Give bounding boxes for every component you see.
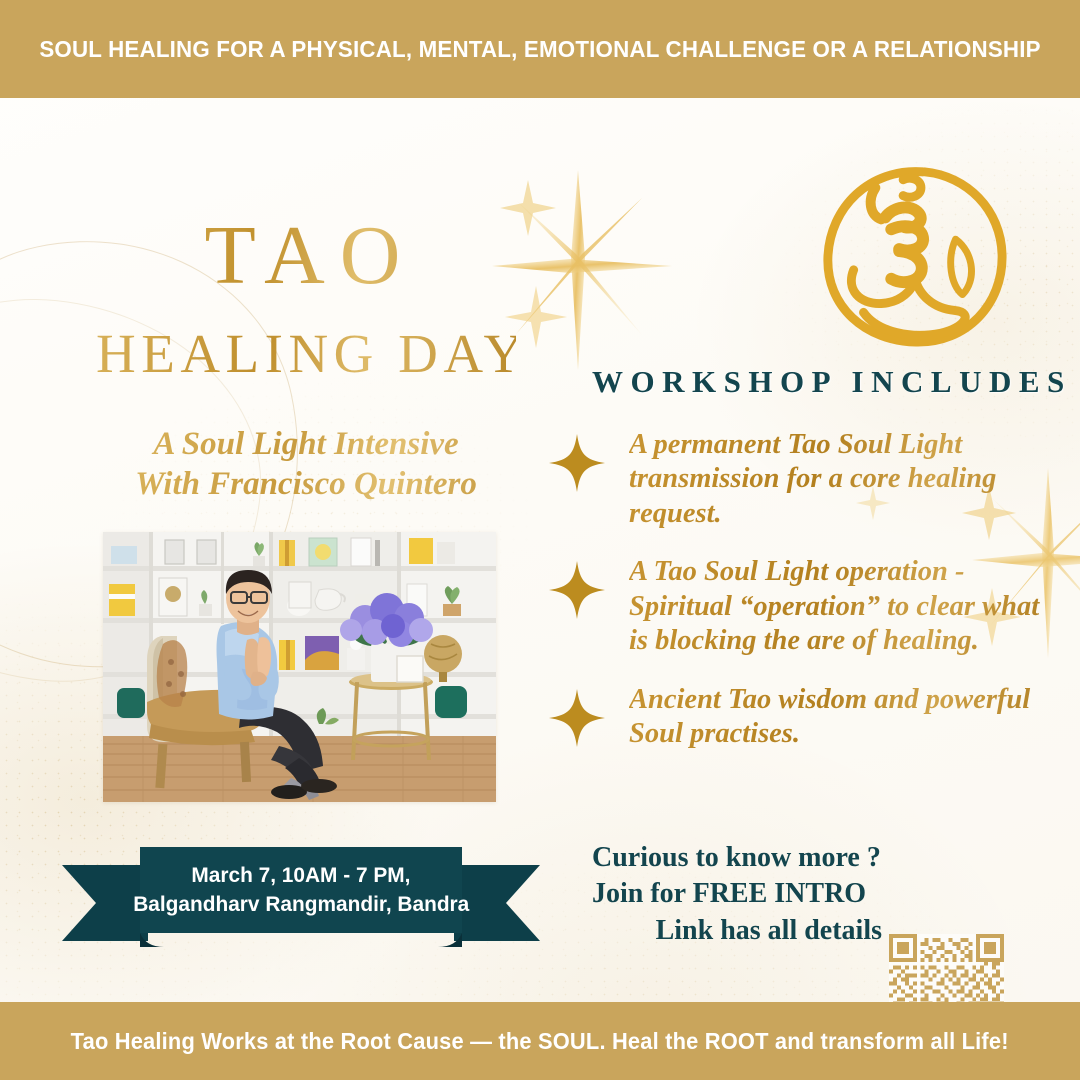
cta-line-1: Curious to know more ? bbox=[592, 840, 882, 876]
event-date-time: March 7, 10AM - 7 PM, bbox=[191, 863, 410, 888]
tao-om-circle-logo bbox=[816, 160, 1014, 350]
poster-body: TAO HEALING DAY A Soul Light Intensive W… bbox=[0, 98, 1080, 1002]
francisco-quintero-photo bbox=[103, 532, 496, 802]
four-point-star-bullet-icon bbox=[549, 561, 605, 619]
page-title-primary: TAO bbox=[110, 216, 510, 296]
event-details-ribbon: March 7, 10AM - 7 PM, Balgandharv Rangma… bbox=[62, 847, 540, 951]
bottom-banner-text: Tao Healing Works at the Root Cause — th… bbox=[71, 1028, 1009, 1055]
list-item: Ancient Tao wisdom and powerful Soul pra… bbox=[545, 683, 1045, 752]
cta-line-2: Join for FREE INTRO bbox=[592, 876, 882, 912]
cta-line-3: Link has all details bbox=[592, 913, 882, 949]
page-title-secondary: HEALING DAY bbox=[96, 326, 516, 381]
four-point-star-bullet-icon bbox=[549, 434, 605, 492]
top-banner-text: SOUL HEALING FOR A PHYSICAL, MENTAL, EMO… bbox=[39, 36, 1040, 63]
bottom-banner: Tao Healing Works at the Root Cause — th… bbox=[0, 1002, 1080, 1080]
list-item-text: A permanent Tao Soul Light transmission … bbox=[629, 428, 1045, 531]
list-item: A Tao Soul Light operation - Spiritual “… bbox=[545, 555, 1045, 658]
workshop-includes-list: A permanent Tao Soul Light transmission … bbox=[545, 428, 1045, 776]
workshop-includes-heading: WORKSHOP INCLUDES bbox=[592, 364, 1072, 400]
list-item: A permanent Tao Soul Light transmission … bbox=[545, 428, 1045, 531]
poster-root: SOUL HEALING FOR A PHYSICAL, MENTAL, EMO… bbox=[0, 0, 1080, 1080]
page-subtitle-line1: A Soul Light Intensive bbox=[96, 425, 516, 465]
event-details-text: March 7, 10AM - 7 PM, Balgandharv Rangma… bbox=[62, 847, 540, 933]
call-to-action-text: Curious to know more ? Join for FREE INT… bbox=[592, 840, 882, 949]
page-subtitle: A Soul Light Intensive With Francisco Qu… bbox=[96, 425, 516, 505]
list-item-text: A Tao Soul Light operation - Spiritual “… bbox=[629, 555, 1045, 658]
list-item-text: Ancient Tao wisdom and powerful Soul pra… bbox=[629, 683, 1045, 752]
event-venue: Balgandharv Rangmandir, Bandra bbox=[133, 892, 469, 917]
top-banner: SOUL HEALING FOR A PHYSICAL, MENTAL, EMO… bbox=[0, 0, 1080, 98]
four-point-star-bullet-icon bbox=[549, 689, 605, 747]
page-subtitle-line2: With Francisco Quintero bbox=[96, 465, 516, 505]
